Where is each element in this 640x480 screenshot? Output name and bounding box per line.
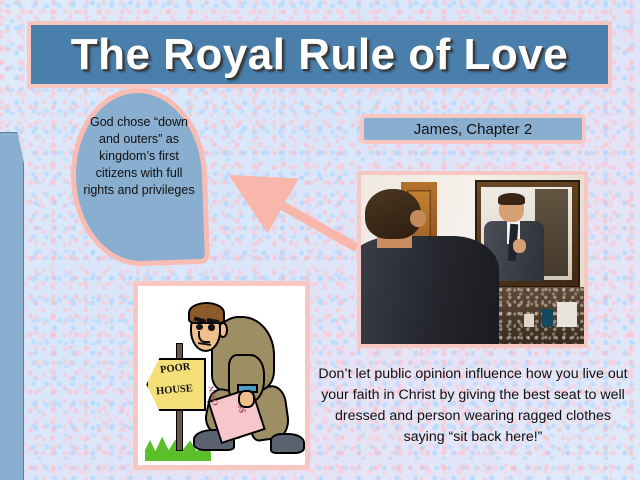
photo-foreground-suit xyxy=(357,236,499,348)
photo-bottle xyxy=(542,309,553,328)
speech-bubble-text: God chose “down and outers” as kingdom’s… xyxy=(81,114,197,199)
cartoon-back-shoe xyxy=(270,433,305,454)
scripture-reference-label: James, Chapter 2 xyxy=(414,121,532,138)
slide-title-banner: The Royal Rule of Love xyxy=(27,21,612,88)
cartoon-hand xyxy=(238,390,255,408)
slide-body-text: Don’t let public opinion influence how y… xyxy=(318,364,628,448)
scripture-reference-box: James, Chapter 2 xyxy=(360,114,586,144)
photo-cup xyxy=(524,314,534,328)
speech-bubble: God chose “down and outers” as kingdom’s… xyxy=(71,88,207,266)
left-accent-bar xyxy=(0,132,24,480)
page-title: The Royal Rule of Love xyxy=(71,30,569,80)
photo-reflection-hand xyxy=(513,239,526,253)
photo-reflection-hair xyxy=(498,193,525,205)
mirror-photo xyxy=(357,171,588,348)
cartoon-eye-right xyxy=(208,324,215,330)
photo-foreground-ear xyxy=(410,210,426,227)
cartoon-eye-left xyxy=(196,324,203,330)
connector-arrow-icon xyxy=(225,168,375,263)
poor-house-cartoon: POOR HOUSE OWN $$ xyxy=(133,281,310,470)
photo-box xyxy=(557,302,577,327)
presentation-slide: The Royal Rule of Love God chose “down a… xyxy=(0,0,640,480)
